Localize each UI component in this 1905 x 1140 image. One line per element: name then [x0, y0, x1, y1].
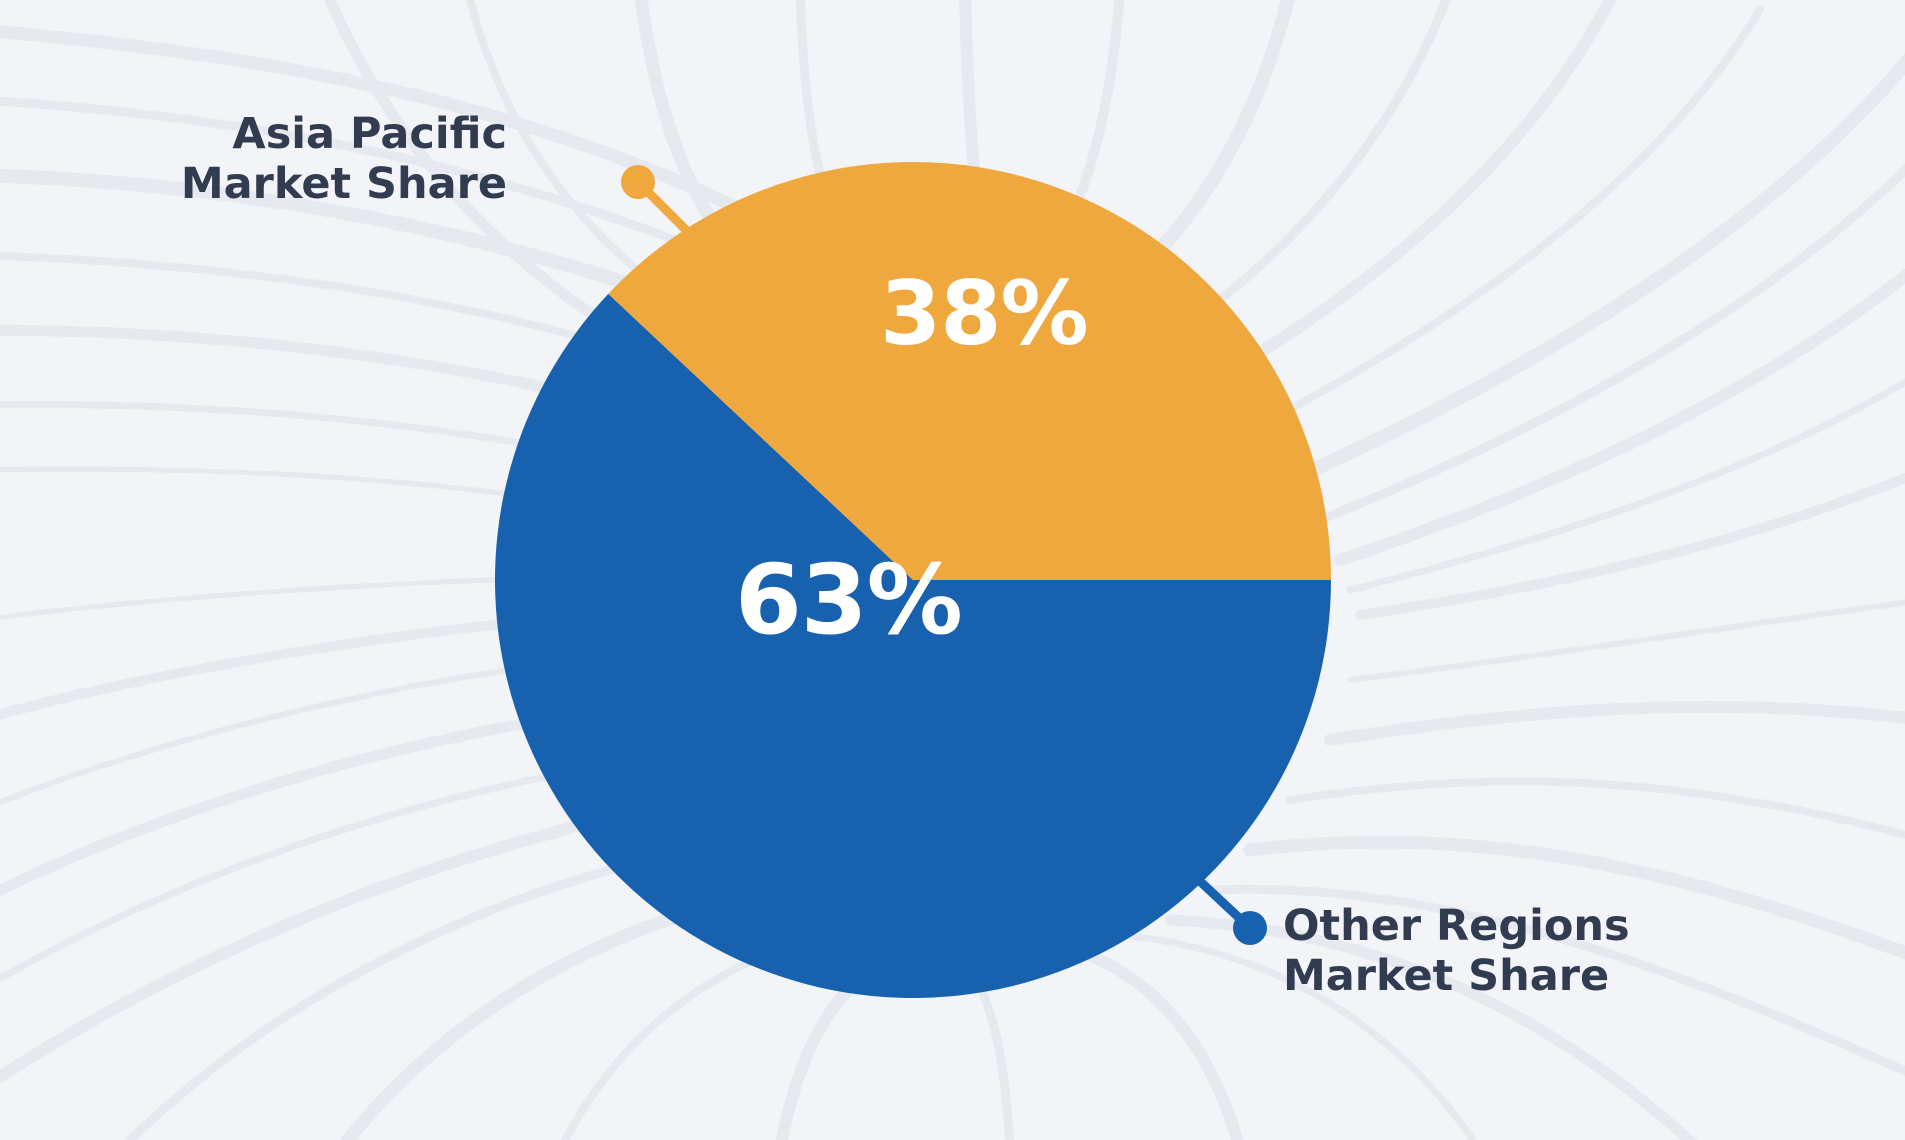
callout-label-asia-pacific-line1: Asia Pacific [181, 110, 507, 160]
callout-label-other-regions-line1: Other Regions [1283, 902, 1630, 952]
slice-value-other-regions: 63% [735, 552, 962, 648]
callout-label-other-regions-line2: Market Share [1283, 952, 1630, 1002]
callout-label-asia-pacific: Asia Pacific Market Share [181, 110, 507, 210]
callout-dot-other-regions [1233, 911, 1267, 945]
callout-label-asia-pacific-line2: Market Share [181, 160, 507, 210]
callout-dot-asia-pacific [621, 165, 655, 199]
chart-canvas: 38% 63% Asia Pacific Market Share Other … [0, 0, 1905, 1140]
callout-label-other-regions: Other Regions Market Share [1283, 902, 1630, 1002]
slice-value-asia-pacific: 38% [880, 270, 1088, 358]
